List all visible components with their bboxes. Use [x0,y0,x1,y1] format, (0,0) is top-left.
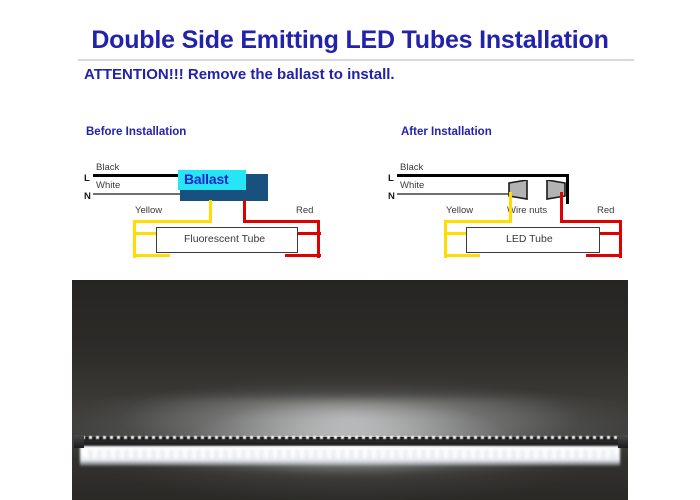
after-yellow-run-left [444,220,512,223]
before-red-prong-bottom [285,254,321,257]
tube-end-cap-right [618,435,628,448]
after-installation-heading: After Installation [401,126,492,138]
wire-nuts-label: Wire nuts [507,205,547,216]
after-white-wire-label: White [400,180,424,191]
before-terminal-L: L [84,173,90,184]
after-black-wire [397,174,569,177]
wiring-diagram-area: Before Installation L N Black White Ball… [0,112,700,272]
before-yellow-riser [133,220,136,258]
after-red-riser [619,220,622,258]
after-red-run-right [560,220,622,223]
before-yellow-run-left [133,220,212,223]
led-tube-label: LED Tube [506,233,553,245]
after-red-prong-bottom [586,254,622,257]
tube-lower-led-strip [84,450,614,458]
before-yellow-wire-label: Yellow [135,205,162,216]
title-divider [78,59,634,61]
after-black-wire-label: Black [400,162,423,173]
before-red-run-right [243,220,320,223]
before-black-wire-label: Black [96,162,119,173]
after-yellow-drop [509,192,512,223]
before-terminal-N: N [84,191,91,202]
before-red-wire-label: Red [296,205,313,216]
fluorescent-tube-label: Fluorescent Tube [184,233,265,245]
led-tube-photo [72,280,628,500]
tube-end-cap-left [74,435,84,448]
after-white-wire [397,193,514,195]
before-ballast-label: Ballast [184,171,229,187]
after-yellow-prong-bottom [444,254,480,257]
before-white-wire-label: White [96,180,120,191]
before-red-riser [317,220,320,258]
before-yellow-prong-bottom [133,254,170,257]
after-red-wire-label: Red [597,205,614,216]
after-red-drop [560,192,563,223]
page-title: Double Side Emitting LED Tubes Installat… [0,26,700,55]
attention-notice: ATTENTION!!! Remove the ballast to insta… [84,66,395,83]
after-yellow-riser [444,220,447,258]
after-terminal-N: N [388,191,395,202]
tube-upper-led-strip [82,436,618,439]
after-yellow-wire-label: Yellow [446,205,473,216]
after-terminal-L: L [388,173,394,184]
before-installation-heading: Before Installation [86,126,186,138]
